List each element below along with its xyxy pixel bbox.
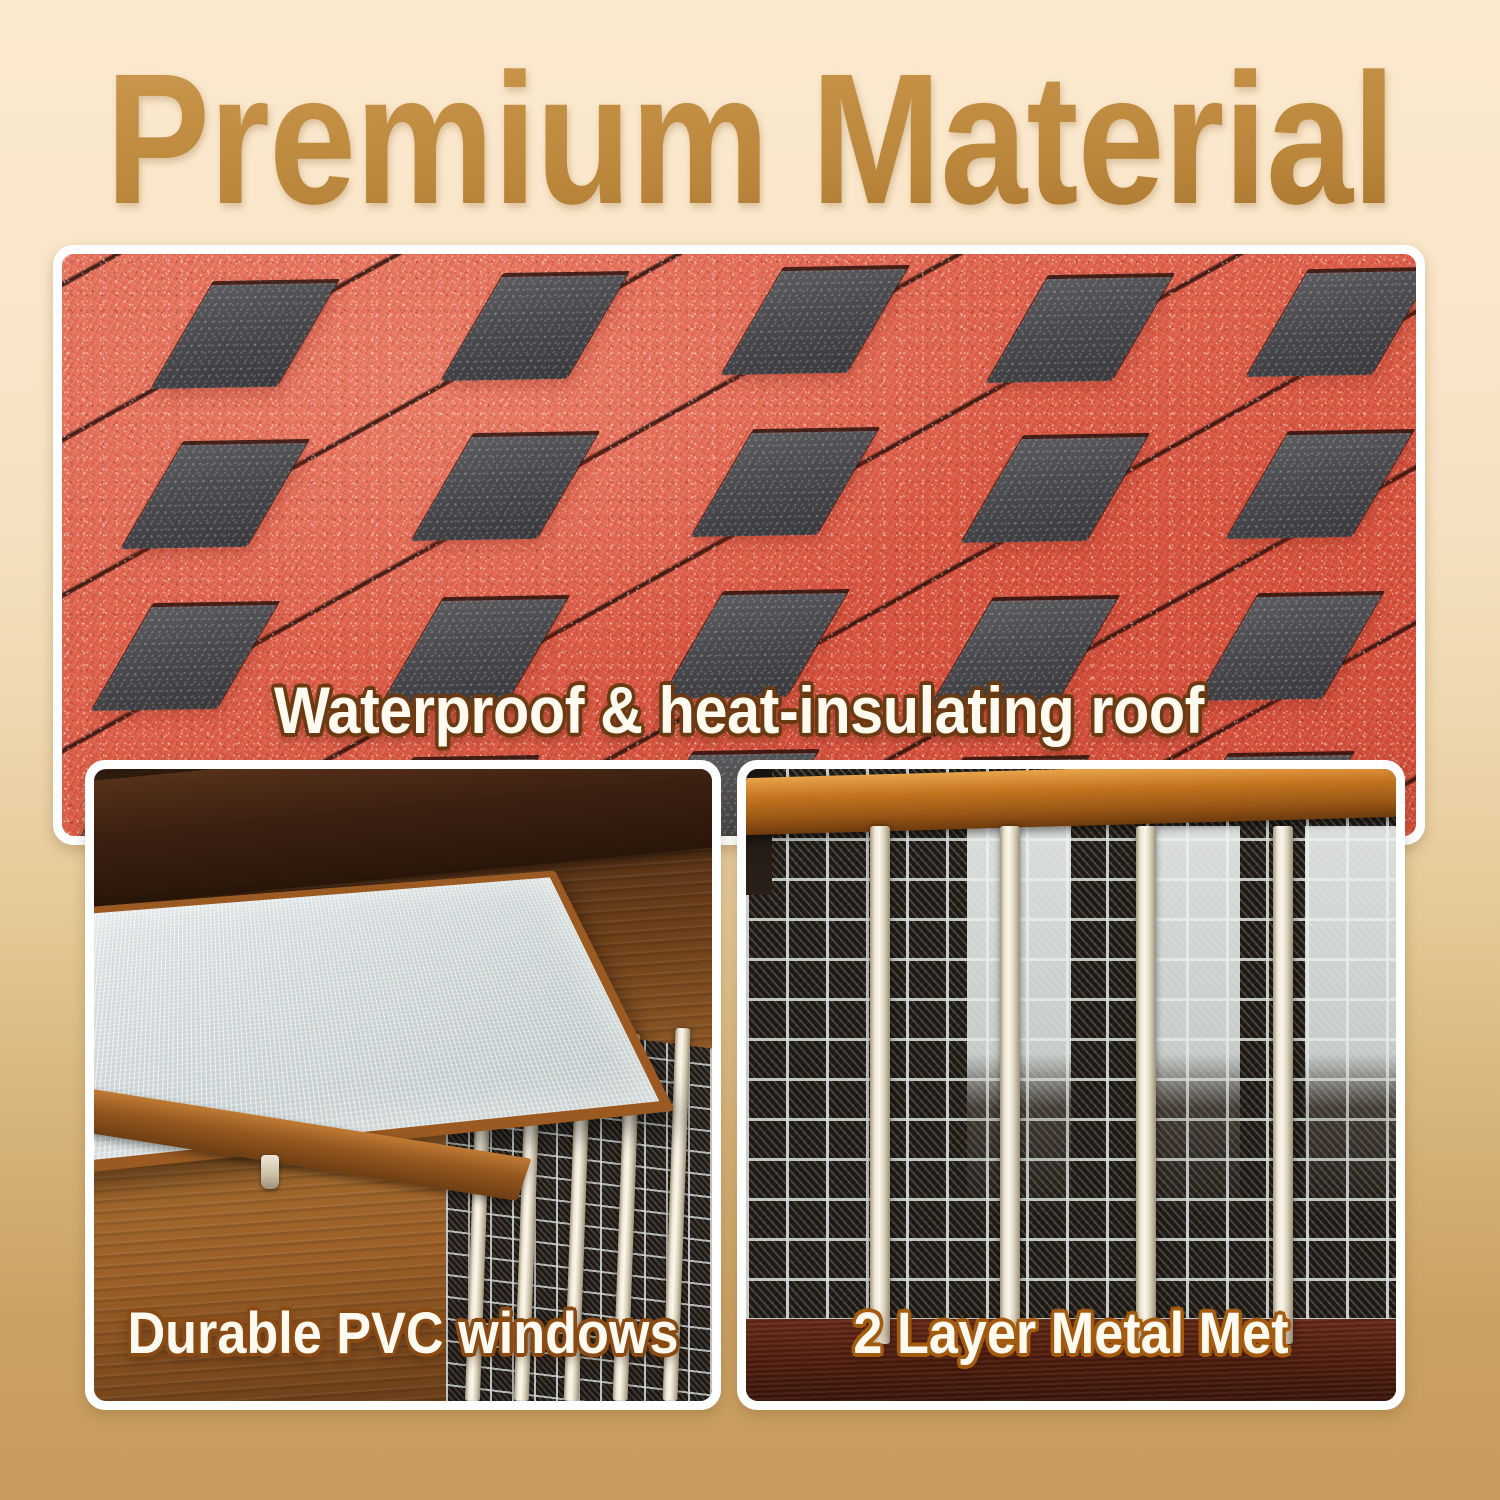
window-latch-hook bbox=[261, 1155, 279, 1189]
mesh-vertical-bar bbox=[870, 826, 890, 1344]
feature-card-roof: Waterproof & heat-insulating roof bbox=[53, 245, 1425, 845]
mesh-vertical-bar bbox=[1136, 826, 1156, 1344]
feature-card-mesh-image: 2 Layer Metal Met bbox=[746, 769, 1396, 1401]
caption-waterproof-roof: Waterproof & heat-insulating roof bbox=[130, 672, 1349, 748]
page-title: Premium Material bbox=[105, 54, 1394, 225]
mesh-backlit-panel bbox=[1149, 826, 1240, 1218]
mesh-vertical-bar bbox=[1000, 826, 1020, 1344]
caption-2-layer-metal-mesh: 2 Layer Metal Met bbox=[779, 1300, 1364, 1367]
mesh-vertical-bar bbox=[1273, 826, 1293, 1344]
page-title-container: Premium Material bbox=[0, 52, 1500, 227]
caption-durable-pvc-windows: Durable PVC windows bbox=[125, 1300, 681, 1367]
feature-card-pvc-image: Durable PVC windows bbox=[94, 769, 712, 1401]
mesh-backlit-panel bbox=[1305, 826, 1396, 1218]
feature-card-roof-image: Waterproof & heat-insulating roof bbox=[62, 254, 1416, 836]
feature-card-metal-mesh: 2 Layer Metal Met bbox=[737, 760, 1405, 1410]
premium-material-poster: Premium Material bbox=[0, 0, 1500, 1500]
feature-card-pvc-windows: Durable PVC windows bbox=[85, 760, 721, 1410]
